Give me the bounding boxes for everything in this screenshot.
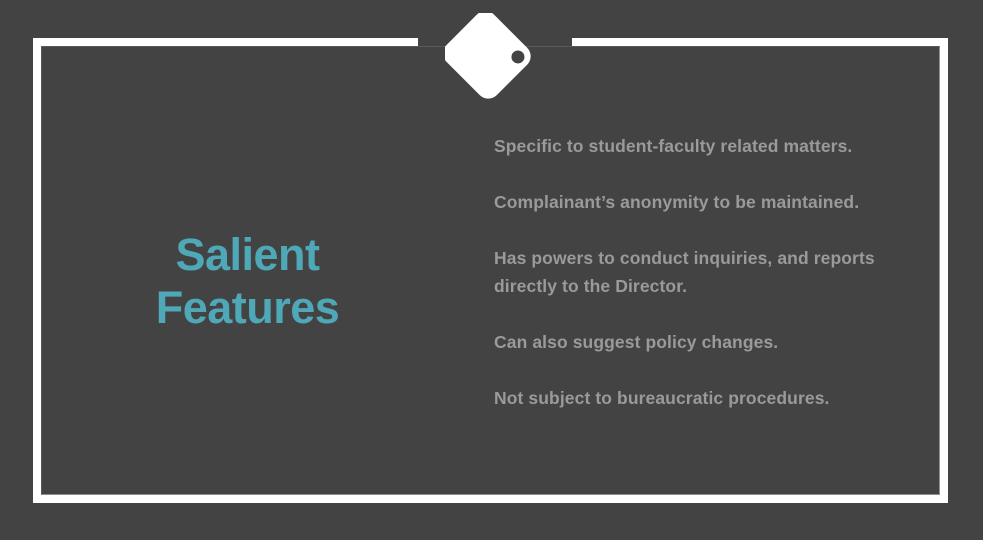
frame-border-top-right — [572, 38, 948, 46]
frame-border-bottom — [33, 495, 948, 503]
page-title-line-1: Salient — [60, 228, 435, 281]
page-title: Salient Features — [60, 228, 435, 334]
page-title-line-2: Features — [60, 281, 435, 334]
list-item: Has powers to conduct inquiries, and rep… — [494, 244, 924, 300]
features-list: Specific to student-faculty related matt… — [494, 132, 924, 412]
slide-canvas: Salient Features Specific to student-fac… — [0, 0, 983, 540]
tag-icon — [445, 13, 540, 108]
list-item: Not subject to bureaucratic procedures. — [494, 384, 924, 412]
list-item: Specific to student-faculty related matt… — [494, 132, 924, 160]
list-item: Complainant’s anonymity to be maintained… — [494, 188, 924, 216]
frame-border-left — [33, 38, 41, 503]
frame-border-top-left — [33, 38, 418, 46]
list-item: Can also suggest policy changes. — [494, 328, 924, 356]
frame-border-right — [940, 38, 948, 503]
